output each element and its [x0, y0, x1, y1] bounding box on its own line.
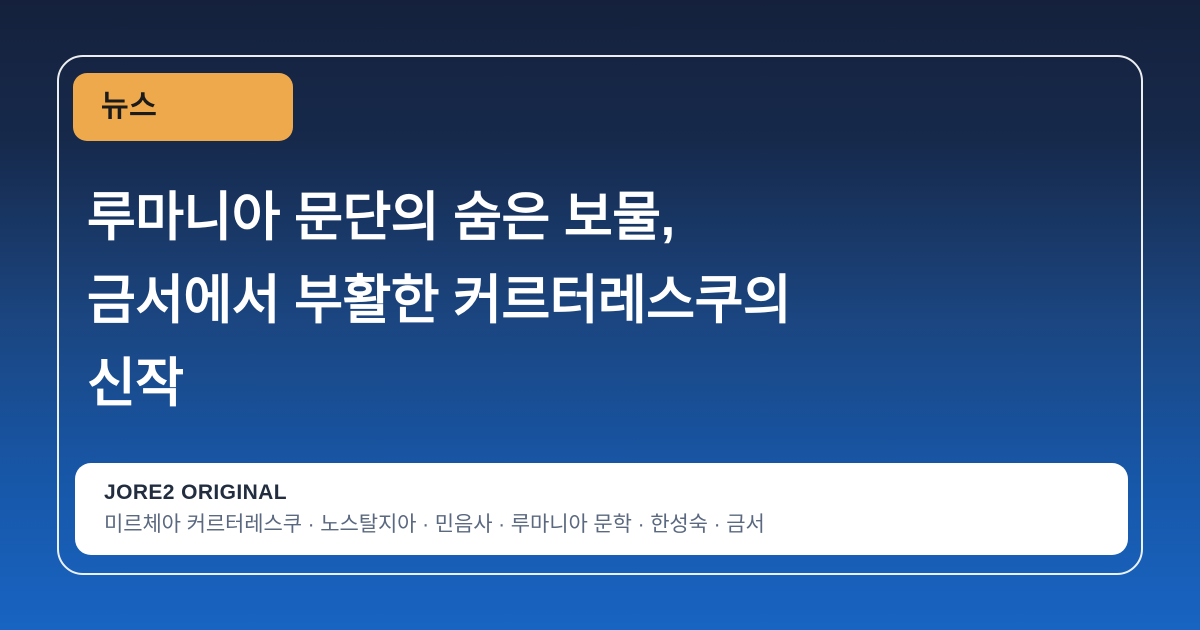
headline-line-1: 루마니아 문단의 숨은 보물, — [87, 176, 1087, 259]
headline-line-2: 금서에서 부활한 커르터레스쿠의 — [87, 259, 1087, 342]
category-badge[interactable]: 뉴스 — [73, 73, 293, 141]
headline-line-3: 신작 — [87, 342, 1087, 425]
page-title: 루마니아 문단의 숨은 보물, 금서에서 부활한 커르터레스쿠의 신작 — [87, 176, 1087, 425]
brand-label: JORE2 ORIGINAL — [104, 479, 1128, 507]
category-badge-label: 뉴스 — [101, 92, 157, 122]
info-card: JORE2 ORIGINAL 미르체아 커르터레스쿠 · 노스탈지아 · 민음사… — [75, 463, 1128, 555]
open-graph-card: 뉴스 루마니아 문단의 숨은 보물, 금서에서 부활한 커르터레스쿠의 신작 J… — [0, 0, 1200, 630]
tag-list: 미르체아 커르터레스쿠 · 노스탈지아 · 민음사 · 루마니아 문학 · 한성… — [104, 510, 1128, 539]
